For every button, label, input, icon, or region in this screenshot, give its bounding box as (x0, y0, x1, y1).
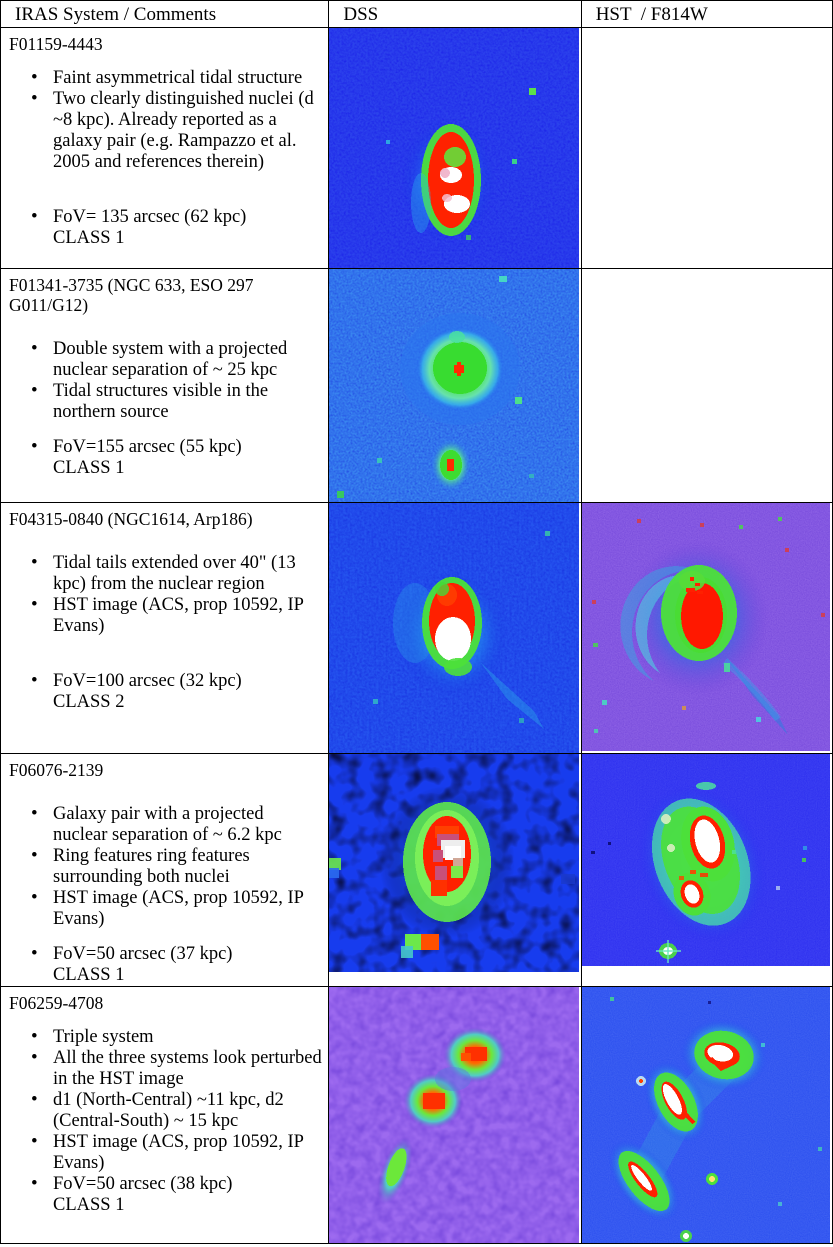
dss-image-f06076-2139 (329, 754, 580, 972)
foreground-star-mid (706, 1173, 718, 1185)
list-item: HST image (ACS, prop 10592, IP Evans) (1, 888, 328, 930)
dss-image-f01159-4443 (329, 28, 580, 268)
dss-image-f01341-3735 (329, 269, 580, 502)
dss-image-cell-row4 (329, 754, 581, 987)
comment-bullets: Tidal tails extended over 40" (13 kpc) f… (1, 553, 328, 637)
fov-value: FoV=50 arcsec (38 kpc) (1, 1174, 328, 1195)
fov-block: FoV=155 arcsec (55 kpc) CLASS 1 (1, 437, 328, 479)
dss-image-cell-row1 (329, 28, 581, 269)
list-item: Tidal tails extended over 40" (13 kpc) f… (1, 553, 328, 595)
list-item: Double system with a projected nuclear s… (1, 339, 328, 381)
hst-image-cell-row3 (581, 503, 832, 754)
fov-value: FoV= 135 arcsec (62 kpc) (1, 207, 328, 228)
table-header-row: IRAS System / Comments DSS HST / F814W (1, 1, 833, 28)
fov-block: FoV=100 arcsec (32 kpc) CLASS 2 (1, 671, 328, 713)
header-cell-iras-system-comments: IRAS System / Comments (1, 1, 329, 28)
hst-image-cell-row5 (581, 987, 832, 1244)
class-value: CLASS 1 (1, 1195, 328, 1216)
table-row: F01341-3735 (NGC 633, ESO 297 G011/G12) … (1, 269, 833, 503)
table-row: F06259-4708 Triple system All the three … (1, 987, 833, 1244)
comments-cell-row2: F01341-3735 (NGC 633, ESO 297 G011/G12) … (1, 269, 329, 503)
fov-value: FoV=100 arcsec (32 kpc) (1, 671, 328, 692)
fov-value: FoV=155 arcsec (55 kpc) (1, 437, 328, 458)
list-item: Galaxy pair with a projected nuclear sep… (1, 804, 328, 846)
system-name: F06259-4708 (1, 987, 328, 1013)
list-item: Faint asymmetrical tidal structure (1, 68, 328, 89)
comment-bullets: Faint asymmetrical tidal structure Two c… (1, 68, 328, 173)
foreground-star-upper-left (636, 1076, 646, 1086)
header-label-iras: IRAS System / Comments (1, 1, 328, 27)
system-name: F06076-2139 (1, 754, 328, 780)
foreground-star-bottom (680, 1230, 692, 1242)
dss-image-cell-row5 (329, 987, 581, 1244)
comments-cell-row1: F01159-4443 Faint asymmetrical tidal str… (1, 28, 329, 269)
comment-bullets: Galaxy pair with a projected nuclear sep… (1, 804, 328, 930)
table-row: F04315-0840 (NGC1614, Arp186) Tidal tail… (1, 503, 833, 754)
fov-block: FoV= 135 arcsec (62 kpc) CLASS 1 (1, 207, 328, 249)
hst-image-f06076-2139 (582, 754, 832, 966)
hst-image-f04315-0840 (582, 503, 832, 751)
list-item: All the three systems look perturbed in … (1, 1048, 328, 1090)
dss-image-cell-row3 (329, 503, 581, 754)
dss-image-f04315-0840 (329, 503, 580, 753)
header-cell-hst: HST / F814W (581, 1, 832, 28)
list-item: HST image (ACS, prop 10592, IP Evans) (1, 595, 328, 637)
list-item: Two clearly distinguished nuclei (d ~8 k… (1, 89, 328, 173)
comment-bullets: Triple system All the three systems look… (1, 1027, 328, 1216)
system-name: F01159-4443 (1, 28, 328, 54)
hst-image-f06259-4708 (582, 987, 832, 1243)
class-value: CLASS 1 (1, 458, 328, 479)
comments-cell-row4: F06076-2139 Galaxy pair with a projected… (1, 754, 329, 987)
class-value: CLASS 1 (1, 965, 328, 986)
header-label-hst: HST / F814W (582, 1, 832, 27)
fov-block: FoV=50 arcsec (37 kpc) CLASS 1 (1, 944, 328, 986)
table-row: F01159-4443 Faint asymmetrical tidal str… (1, 28, 833, 269)
dss-image-f06259-4708 (329, 987, 580, 1243)
class-value: CLASS 2 (1, 692, 328, 713)
comments-cell-row3: F04315-0840 (NGC1614, Arp186) Tidal tail… (1, 503, 329, 754)
list-item: Triple system (1, 1027, 328, 1048)
system-name: F01341-3735 (NGC 633, ESO 297 G011/G12) (1, 269, 328, 315)
hst-image-cell-row4 (581, 754, 832, 987)
table-row: F06076-2139 Galaxy pair with a projected… (1, 754, 833, 987)
list-item: d1 (North-Central) ~11 kpc, d2 (Central-… (1, 1090, 328, 1132)
header-cell-dss: DSS (329, 1, 581, 28)
list-item: Ring features ring features surrounding … (1, 846, 328, 888)
hst-image-cell-row2-empty (581, 269, 832, 503)
system-name: F04315-0840 (NGC1614, Arp186) (1, 503, 328, 529)
list-item: Tidal structures visible in the northern… (1, 381, 328, 423)
header-label-dss: DSS (329, 1, 580, 27)
dss-image-cell-row2 (329, 269, 581, 503)
list-item: HST image (ACS, prop 10592, IP Evans) (1, 1132, 328, 1174)
iras-catalog-table: IRAS System / Comments DSS HST / F814W F… (0, 0, 833, 1244)
class-value: CLASS 1 (1, 228, 328, 249)
comment-bullets: Double system with a projected nuclear s… (1, 339, 328, 423)
hst-image-cell-row1-empty (581, 28, 832, 269)
fov-value: FoV=50 arcsec (37 kpc) (1, 944, 328, 965)
comments-cell-row5: F06259-4708 Triple system All the three … (1, 987, 329, 1244)
